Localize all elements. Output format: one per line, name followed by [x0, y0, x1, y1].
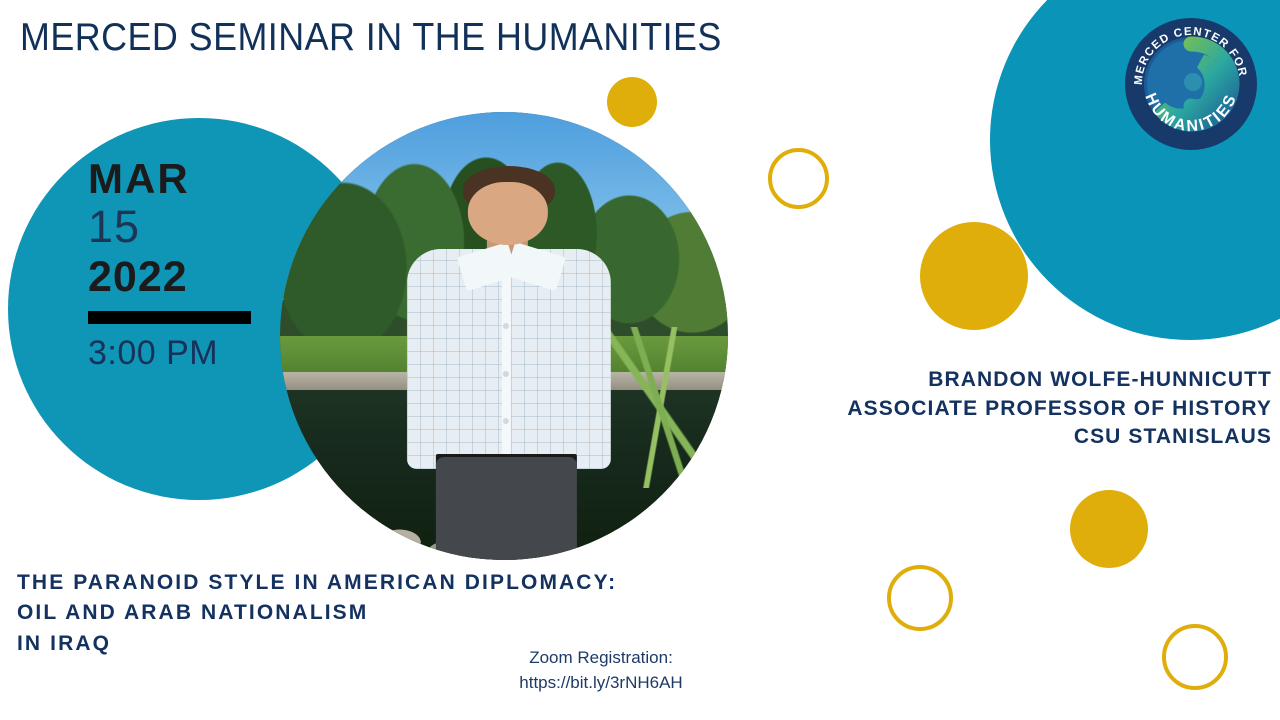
date-month: MAR: [88, 158, 258, 200]
gold-dot-low: [1070, 490, 1148, 568]
page-title: MERCED SEMINAR IN THE HUMANITIES: [20, 18, 722, 59]
event-date-block: MAR 15 2022 3:00 PM: [88, 158, 258, 370]
person-face: [468, 182, 548, 245]
person-shirt-button: [503, 323, 509, 329]
date-divider-rule: [88, 311, 251, 324]
photo-person: [388, 166, 630, 560]
speaker-info: BRANDON WOLFE-HUNNICUTT ASSOCIATE PROFES…: [700, 366, 1272, 452]
gold-ring-bottom-right: [1162, 624, 1228, 690]
gold-dot-mid: [920, 222, 1028, 330]
speaker-affiliation: CSU STANISLAUS: [700, 423, 1272, 452]
date-year: 2022: [88, 255, 258, 300]
humanities-center-logo: UC MERCED CENTER FOR THE HUMANITIES: [1123, 16, 1259, 152]
speaker-photo: [280, 112, 728, 560]
talk-title-line-1: THE PARANOID STYLE IN AMERICAN DIPLOMACY…: [17, 568, 797, 598]
seminar-poster: MERCED SEMINAR IN THE HUMANITIES MAR 15 …: [0, 0, 1280, 720]
speaker-name: BRANDON WOLFE-HUNNICUTT: [700, 366, 1272, 395]
speaker-title: ASSOCIATE PROFESSOR OF HISTORY: [700, 395, 1272, 424]
date-day: 15: [88, 200, 258, 255]
zoom-registration-label: Zoom Registration:: [440, 646, 762, 671]
person-pants: [436, 457, 576, 560]
event-time: 3:00 PM: [88, 336, 258, 370]
zoom-registration: Zoom Registration: https://bit.ly/3rNH6A…: [440, 646, 762, 695]
gold-ring-top: [768, 148, 829, 209]
gold-ring-bottom-left: [887, 565, 953, 631]
talk-title-line-2: OIL AND ARAB NATIONALISM: [17, 598, 797, 628]
zoom-registration-url[interactable]: https://bit.ly/3rNH6AH: [440, 671, 762, 696]
